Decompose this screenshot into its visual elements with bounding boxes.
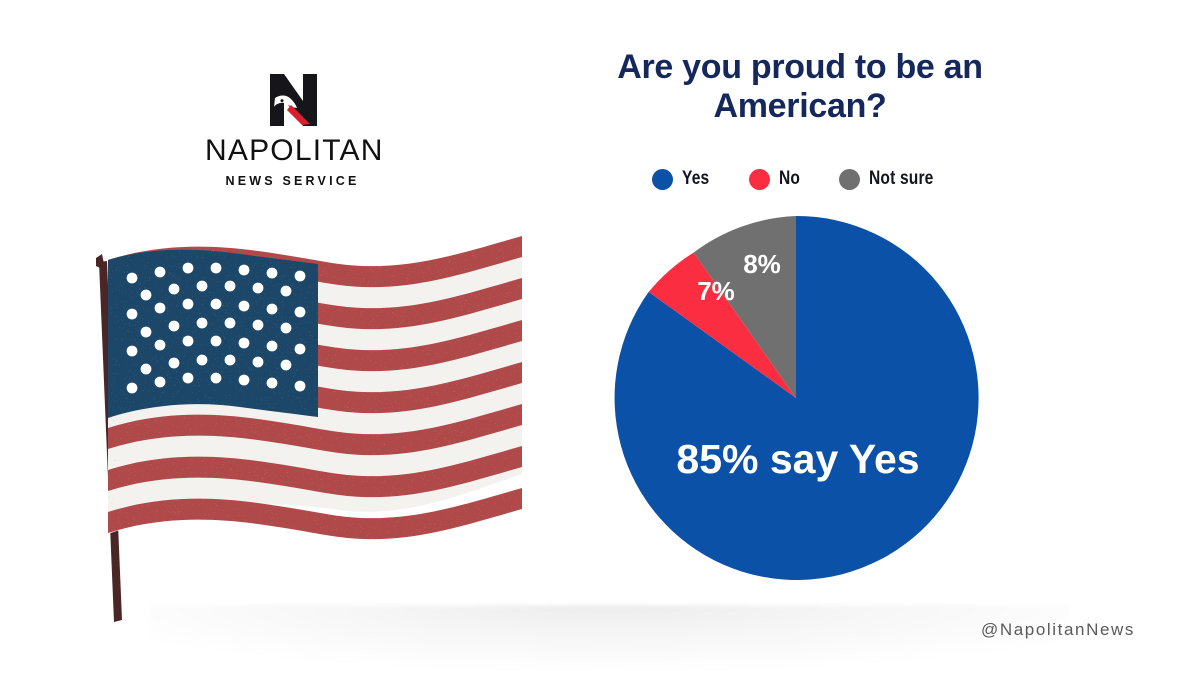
pie-chart: 7% 8% 85% say Yes [613,215,979,581]
flag-canton [108,250,318,418]
legend-swatch-yes [652,169,673,190]
pie-slice-label-not-sure: 8% [743,249,781,279]
pie-slice-label-no: 7% [697,276,735,306]
logo-tagline: NEWS SERVICE [205,175,380,188]
legend-label-yes: Yes [682,168,709,190]
chart-legend: Yes No Not sure [565,168,1035,190]
flag-body [108,236,522,539]
napolitan-logo: NAPOLITAN NEWS SERVICE [205,72,380,192]
pie-slice-yes[interactable] [615,216,979,580]
pie-slice-label-yes: 85% say Yes [676,436,919,482]
headline: Are you proud to be an American? [565,48,1035,127]
pie-chart-svg: 7% 8% 85% say Yes [613,215,979,581]
legend-swatch-not-sure [839,169,860,190]
legend-label-not-sure: Not sure [869,168,934,190]
legend-swatch-no [749,169,770,190]
american-flag-svg [80,222,530,642]
american-flag-illustration [80,222,530,642]
social-handle: @NapolitanNews [900,620,1135,640]
slide-canvas: NAPOLITAN NEWS SERVICE [0,0,1200,675]
legend-item-not-sure[interactable]: Not sure [839,168,948,190]
legend-label-no: No [779,168,800,190]
legend-item-yes[interactable]: Yes [652,168,715,190]
logo-wordmark: NAPOLITAN [205,136,380,166]
napolitan-n-eagle-mark [262,72,324,128]
legend-item-no[interactable]: No [749,168,805,190]
